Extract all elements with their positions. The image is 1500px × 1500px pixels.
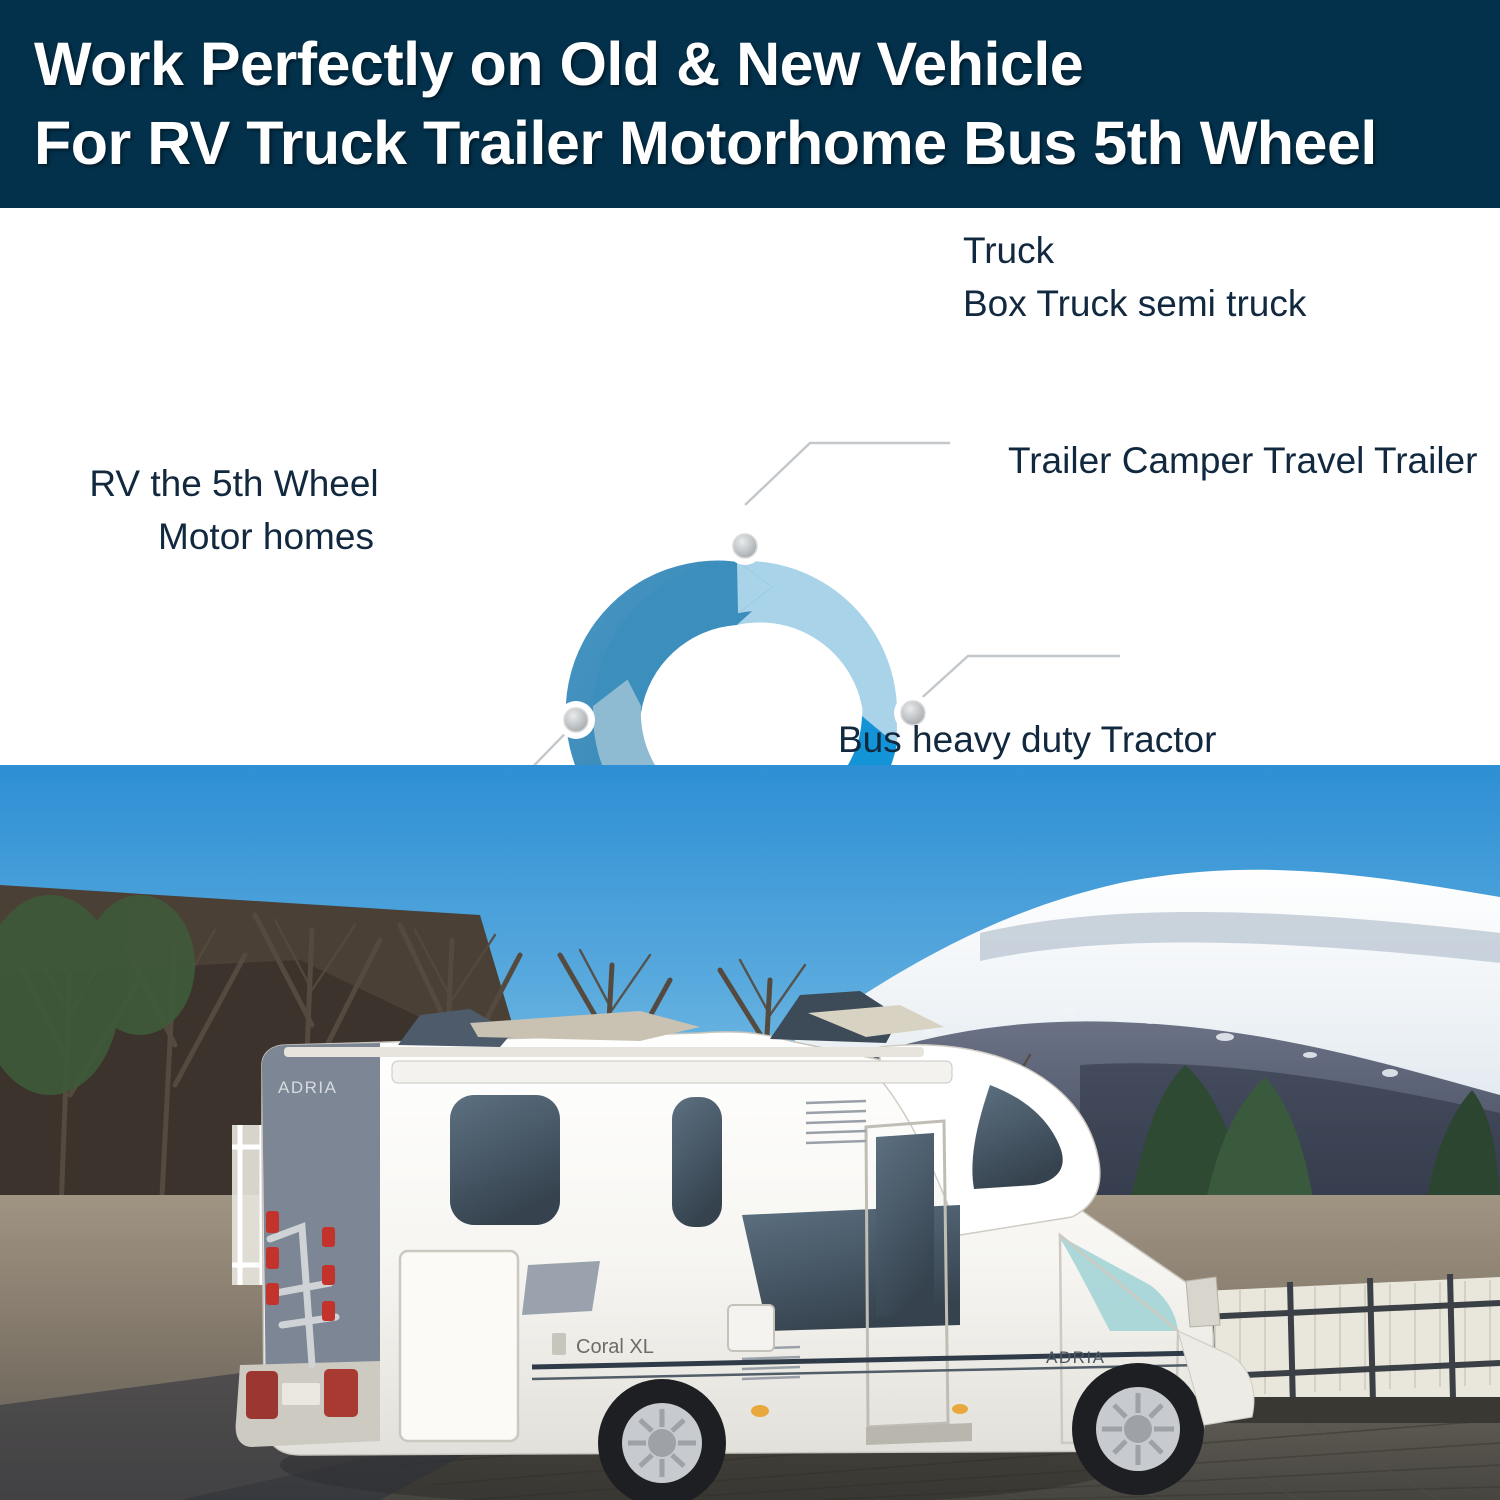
rv-license-plate	[282, 1383, 320, 1405]
callout-truck-line2: Box Truck semi truck	[963, 278, 1306, 331]
callout-label-truck: Truck Box Truck semi truck	[963, 225, 1306, 330]
photo-illustration: Coral XL ADRIA ADRIA	[0, 765, 1500, 1500]
banner-headline-primary: Work Perfectly on Old & New Vehicle	[34, 33, 1500, 96]
callout-truck-line1: Truck	[963, 230, 1054, 271]
marker-truck[interactable]	[726, 527, 764, 565]
callout-trailer-line1: Trailer Camper Travel Trailer	[1008, 440, 1477, 481]
rv-roof-trim	[284, 1047, 924, 1057]
header-banner: Work Perfectly on Old & New Vehicle For …	[0, 0, 1500, 208]
rv-model-text: Coral XL	[576, 1336, 654, 1358]
leader-line-truck	[745, 443, 950, 505]
rv-brand-rear: ADRIA	[278, 1078, 337, 1097]
arc-rv-final[interactable]	[593, 680, 752, 766]
compatibility-infographic: Truck Box Truck semi truck Trailer Campe…	[0, 208, 1500, 765]
rv-entry-door-glass	[876, 1133, 934, 1317]
rv-taillight-right	[324, 1369, 358, 1417]
rv-front-wheel	[1072, 1363, 1204, 1495]
rv-taillight-left	[246, 1371, 278, 1419]
callout-label-rv: RV the 5th Wheel Motor homes	[44, 458, 424, 563]
callout-rv-line2: Motor homes	[44, 511, 424, 564]
rv-model-badge	[552, 1333, 566, 1355]
rv-window-2	[672, 1097, 722, 1227]
leader-line-rv	[370, 713, 585, 765]
product-infographic-page: Work Perfectly on Old & New Vehicle For …	[0, 0, 1500, 1500]
callout-bus-line1: Bus heavy duty Tractor	[838, 719, 1216, 760]
marker-rv[interactable]	[557, 701, 595, 739]
leader-line-trailer	[905, 656, 1120, 713]
rv-mirror	[1186, 1277, 1220, 1327]
banner-headline-secondary: For RV Truck Trailer Motorhome Bus 5th W…	[34, 112, 1500, 175]
product-photo-motorhome: Coral XL ADRIA ADRIA	[0, 765, 1500, 1500]
rv-garage-hatch	[522, 1261, 600, 1315]
rv-rear-panel	[262, 1043, 380, 1407]
callout-rv-line1: RV the 5th Wheel	[89, 463, 378, 504]
callout-label-bus: Bus heavy duty Tractor	[838, 714, 1216, 767]
rv-small-hatch	[728, 1305, 774, 1351]
callout-label-trailer: Trailer Camper Travel Trailer	[1008, 435, 1477, 488]
rv-window-1	[450, 1095, 560, 1225]
rv-brand-side: ADRIA	[1046, 1348, 1105, 1367]
rv-awning	[392, 1061, 952, 1083]
rv-storage-hatch-large	[400, 1251, 518, 1441]
